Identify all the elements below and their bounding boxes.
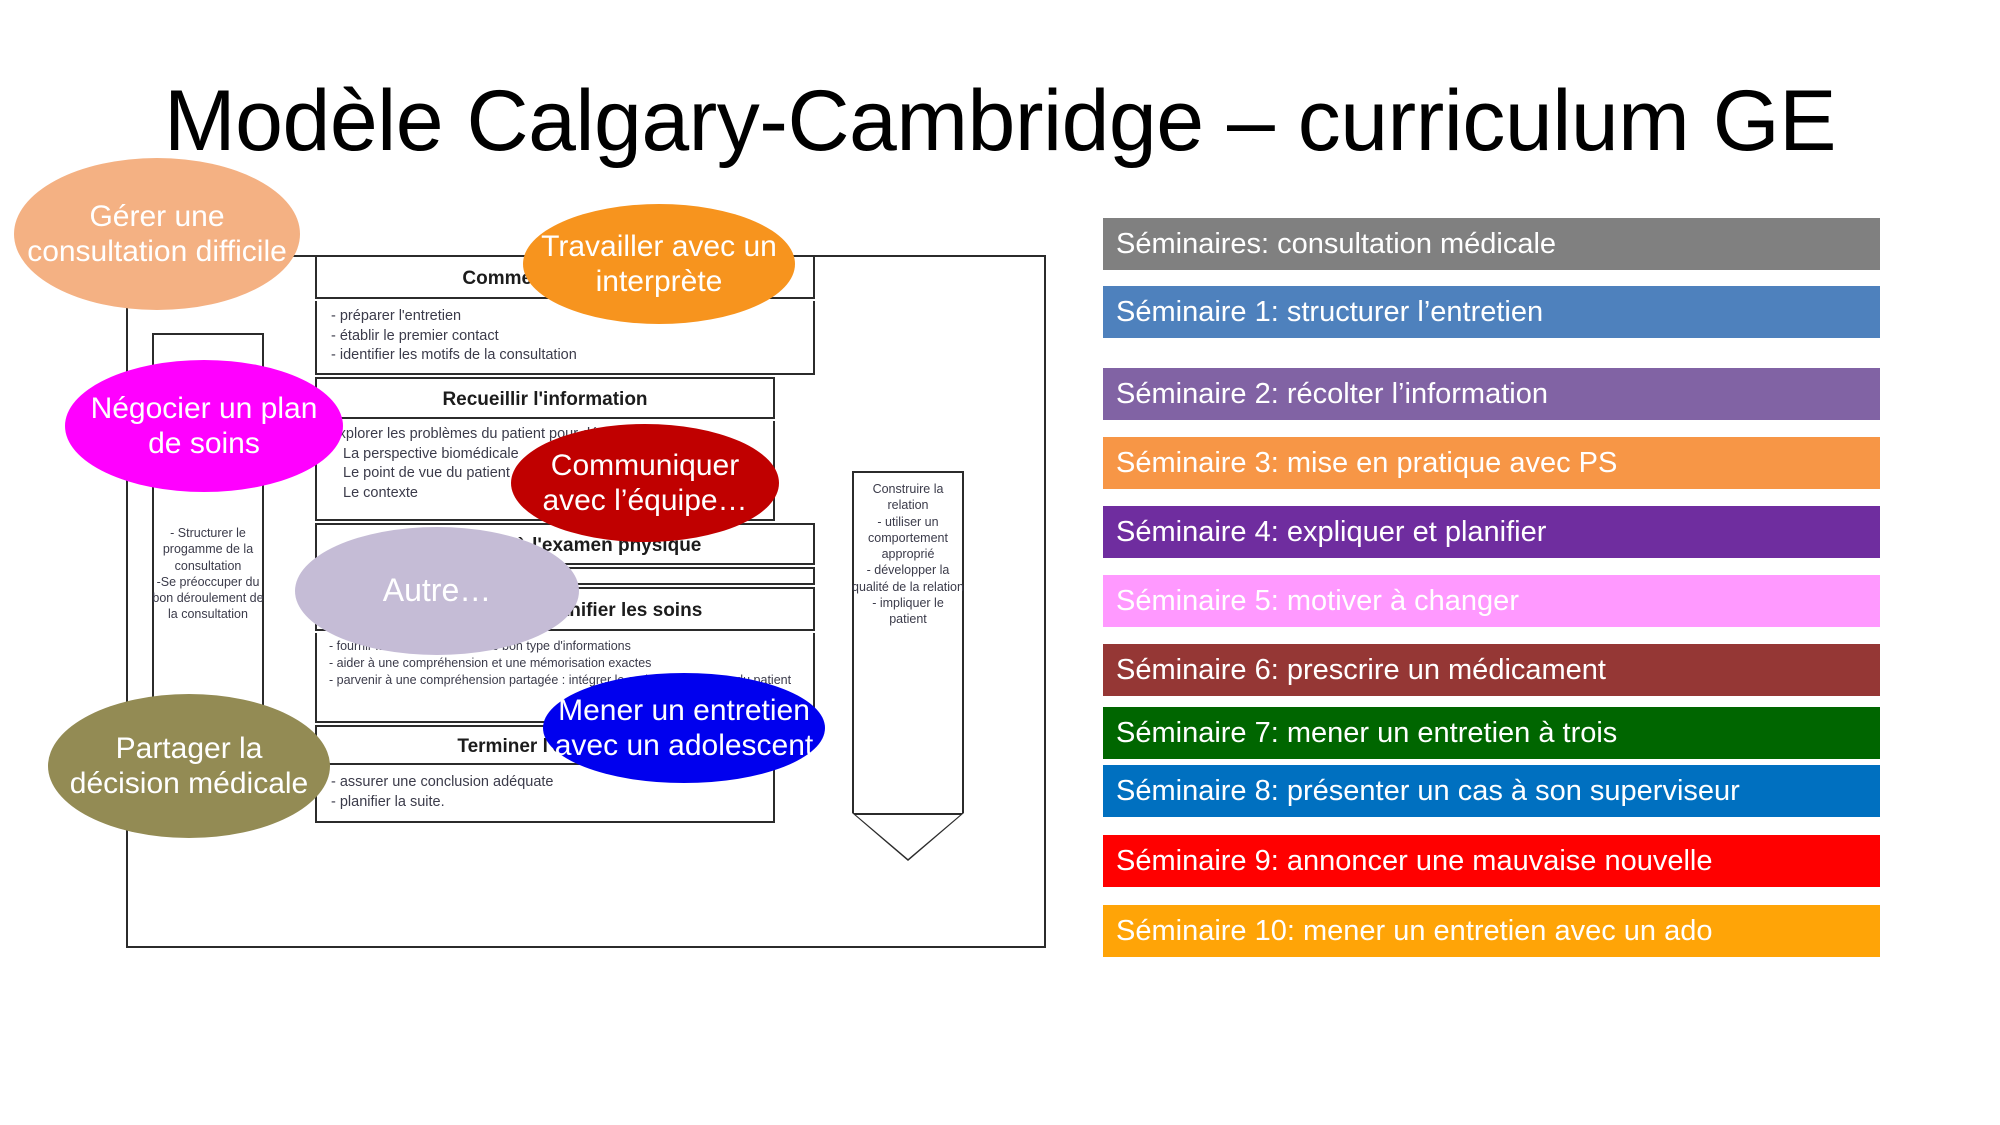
callout-label: Communiquer avec l’équipe… — [521, 448, 769, 519]
seminar-label: Séminaire 1: structurer l’entretien — [1103, 298, 1543, 327]
slide-canvas: Modèle Calgary-Cambridge – curriculum GE… — [0, 0, 2000, 1125]
seminar-label: Séminaire 9: annoncer une mauvaise nouve… — [1103, 847, 1712, 876]
seminars-header-bar[interactable]: Séminaires: consultation médicale — [1103, 218, 1880, 270]
seminar-label: Séminaire 7: mener un entretien à trois — [1103, 719, 1617, 748]
stage-bullet: - identifier les motifs de la consultati… — [331, 346, 813, 366]
seminar-bar-6[interactable]: Séminaire 6: prescrire un médicament — [1103, 644, 1880, 696]
stage-box-recueillir-information: Recueillir l'information — [315, 377, 775, 419]
stage-bullet: - aider à une compréhension et une mémor… — [329, 655, 805, 672]
seminars-header-label: Séminaires: consultation médicale — [1103, 230, 1556, 259]
arrow-label: - Structurer le progamme de la consultat… — [152, 525, 264, 623]
seminar-label: Séminaire 10: mener un entretien avec un… — [1103, 917, 1712, 946]
seminar-label: Séminaire 2: récolter l’information — [1103, 380, 1548, 409]
seminar-label: Séminaire 5: motiver à changer — [1103, 587, 1519, 616]
arrow-construire-la-relation: Construire la relation - utiliser un com… — [852, 471, 964, 861]
stage-bullet: - planifier la suite. — [331, 793, 773, 813]
seminar-bar-3[interactable]: Séminaire 3: mise en pratique avec PS — [1103, 437, 1880, 489]
callout-gerer-consultation-difficile[interactable]: Gérer une consultation difficile — [14, 158, 300, 310]
arrow-label: Construire la relation - utiliser un com… — [852, 481, 964, 627]
callout-partager-decision-medicale[interactable]: Partager la décision médicale — [48, 694, 330, 838]
seminar-label: Séminaire 3: mise en pratique avec PS — [1103, 449, 1617, 478]
callout-autre[interactable]: Autre… — [295, 527, 579, 655]
callout-label: Mener un entretien avec un adolescent — [553, 693, 815, 764]
seminar-bar-2[interactable]: Séminaire 2: récolter l’information — [1103, 368, 1880, 420]
seminar-bar-8[interactable]: Séminaire 8: présenter un cas à son supe… — [1103, 765, 1880, 817]
seminar-bar-9[interactable]: Séminaire 9: annoncer une mauvaise nouve… — [1103, 835, 1880, 887]
seminar-bar-4[interactable]: Séminaire 4: expliquer et planifier — [1103, 506, 1880, 558]
seminar-bar-7[interactable]: Séminaire 7: mener un entretien à trois — [1103, 707, 1880, 759]
callout-mener-entretien-adolescent[interactable]: Mener un entretien avec un adolescent — [543, 673, 825, 783]
callout-label: Autre… — [383, 572, 491, 610]
callout-negocier-plan-de-soins[interactable]: Négocier un plan de soins — [65, 360, 343, 492]
seminar-bar-10[interactable]: Séminaire 10: mener un entretien avec un… — [1103, 905, 1880, 957]
seminar-label: Séminaire 6: prescrire un médicament — [1103, 656, 1606, 685]
callout-label: Travailler avec un interprète — [533, 229, 785, 300]
stage-bullet: - établir le premier contact — [331, 327, 813, 347]
seminar-label: Séminaire 8: présenter un cas à son supe… — [1103, 777, 1740, 806]
arrow-head-inner — [856, 815, 960, 859]
callout-label: Partager la décision médicale — [58, 731, 320, 802]
seminar-label: Séminaire 4: expliquer et planifier — [1103, 518, 1546, 547]
page-title: Modèle Calgary-Cambridge – curriculum GE — [0, 78, 2000, 164]
callout-label: Négocier un plan de soins — [75, 391, 333, 462]
seminar-bar-1[interactable]: Séminaire 1: structurer l’entretien — [1103, 286, 1880, 338]
callout-label: Gérer une consultation difficile — [24, 199, 290, 270]
stage-heading: Recueillir l'information — [317, 379, 773, 411]
callout-communiquer-avec-equipe[interactable]: Communiquer avec l’équipe… — [511, 424, 779, 542]
callout-travailler-avec-interprete[interactable]: Travailler avec un interprète — [523, 204, 795, 324]
seminar-bar-5[interactable]: Séminaire 5: motiver à changer — [1103, 575, 1880, 627]
